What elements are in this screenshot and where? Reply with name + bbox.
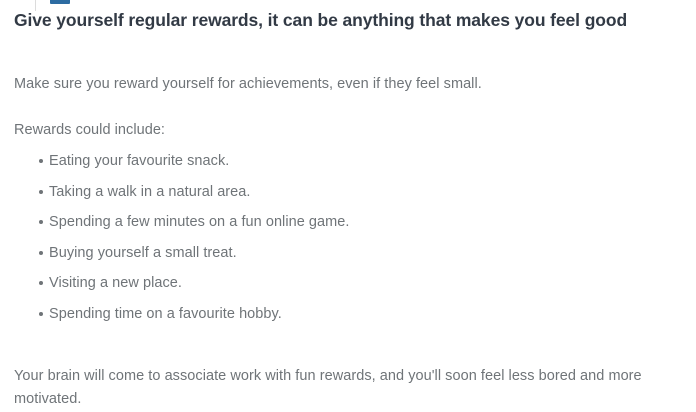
list-item: Buying yourself a small treat. (14, 242, 660, 273)
bullet-dot-icon (39, 159, 43, 163)
bullet-dot-icon (39, 281, 43, 285)
list-item: Spending a few minutes on a fun online g… (14, 211, 660, 242)
page-title: Give yourself regular rewards, it can be… (14, 8, 674, 32)
list-item: Spending time on a favourite hobby. (14, 303, 660, 334)
list-item-label: Spending time on a favourite hobby. (49, 306, 282, 322)
bullet-dot-icon (39, 190, 43, 194)
list-lead-in-text: Rewards could include: (14, 119, 660, 142)
list-item-label: Taking a walk in a natural area. (49, 184, 251, 200)
list-item: Visiting a new place. (14, 272, 660, 303)
bullet-dot-icon (39, 312, 43, 316)
list-item-label: Eating your favourite snack. (49, 153, 229, 169)
list-item-label: Spending a few minutes on a fun online g… (49, 214, 349, 230)
intro-paragraph: Make sure you reward yourself for achiev… (14, 73, 660, 96)
list-item-label: Visiting a new place. (49, 275, 182, 291)
active-tab-indicator[interactable] (50, 0, 70, 4)
closing-paragraph: Your brain will come to associate work w… (14, 365, 654, 411)
bullet-dot-icon (39, 251, 43, 255)
rewards-list: Eating your favourite snack. Taking a wa… (14, 150, 660, 333)
list-item: Eating your favourite snack. (14, 150, 660, 181)
list-item: Taking a walk in a natural area. (14, 181, 660, 212)
bullet-dot-icon (39, 220, 43, 224)
list-item-label: Buying yourself a small treat. (49, 245, 237, 261)
